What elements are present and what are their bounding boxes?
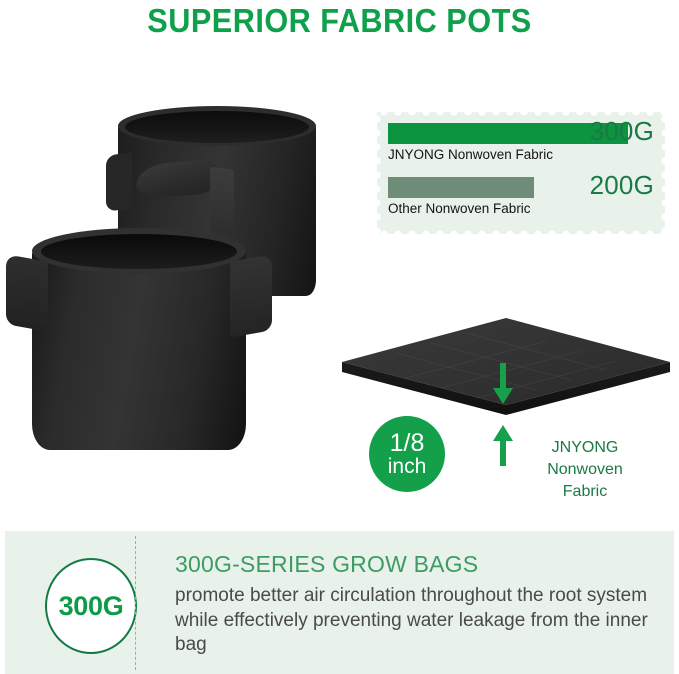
thickness-badge: 1/8 inch xyxy=(369,416,445,492)
fabric-weight-comparison-chart: 300G JNYONG Nonwoven Fabric 200G Other N… xyxy=(377,112,665,234)
pot-handle-left xyxy=(106,152,132,211)
product-infographic: SUPERIOR FABRIC POTS 3 xyxy=(0,0,679,674)
swatch-caption-line-1: JNYONG xyxy=(520,437,650,459)
thickness-arrow-down xyxy=(492,363,514,405)
banner-weight-badge-label: 300G xyxy=(59,591,124,622)
bar-label-secondary: Other Nonwoven Fabric xyxy=(388,201,531,216)
pot-handle-strap xyxy=(210,167,234,236)
chart-row-primary: 300G JNYONG Nonwoven Fabric xyxy=(388,121,654,175)
bar-value-primary: 300G xyxy=(590,114,654,148)
fabric-grow-pot-front xyxy=(24,228,254,456)
panel-perforated-edge-left xyxy=(377,112,384,234)
chart-bar-rows: 300G JNYONG Nonwoven Fabric 200G Other N… xyxy=(388,121,654,229)
pot-handle-left xyxy=(6,254,48,331)
product-photo-group xyxy=(0,88,350,488)
swatch-caption-line-3: Fabric xyxy=(520,481,650,503)
banner-heading: 300G-SERIES GROW BAGS xyxy=(175,551,655,578)
feature-banner: 300G 300G-SERIES GROW BAGS promote bette… xyxy=(5,531,674,674)
bar-other xyxy=(388,177,534,198)
thickness-badge-unit: inch xyxy=(388,456,427,477)
banner-weight-badge: 300G xyxy=(45,558,137,654)
swatch-caption-line-2: Nonwoven xyxy=(520,459,650,481)
bar-value-secondary: 200G xyxy=(590,168,654,202)
banner-body-text: promote better air circulation throughou… xyxy=(175,584,655,658)
swatch-caption: JNYONG Nonwoven Fabric xyxy=(520,437,650,503)
chart-row-secondary: 200G Other Nonwoven Fabric xyxy=(388,175,654,229)
bar-track: 300G xyxy=(388,121,654,145)
pot-body xyxy=(32,250,246,450)
bar-label-primary: JNYONG Nonwoven Fabric xyxy=(388,147,553,162)
panel-perforated-edge-right xyxy=(658,112,665,234)
thickness-badge-fraction: 1/8 xyxy=(390,431,425,457)
thickness-arrow-up xyxy=(492,424,514,466)
pot-interior xyxy=(41,234,237,269)
pot-interior xyxy=(125,111,309,143)
banner-divider xyxy=(135,536,136,670)
banner-text-group: 300G-SERIES GROW BAGS promote better air… xyxy=(175,551,655,658)
pot-handle-right xyxy=(230,254,272,337)
page-title: SUPERIOR FABRIC POTS xyxy=(24,2,655,40)
bar-track: 200G xyxy=(388,175,654,199)
